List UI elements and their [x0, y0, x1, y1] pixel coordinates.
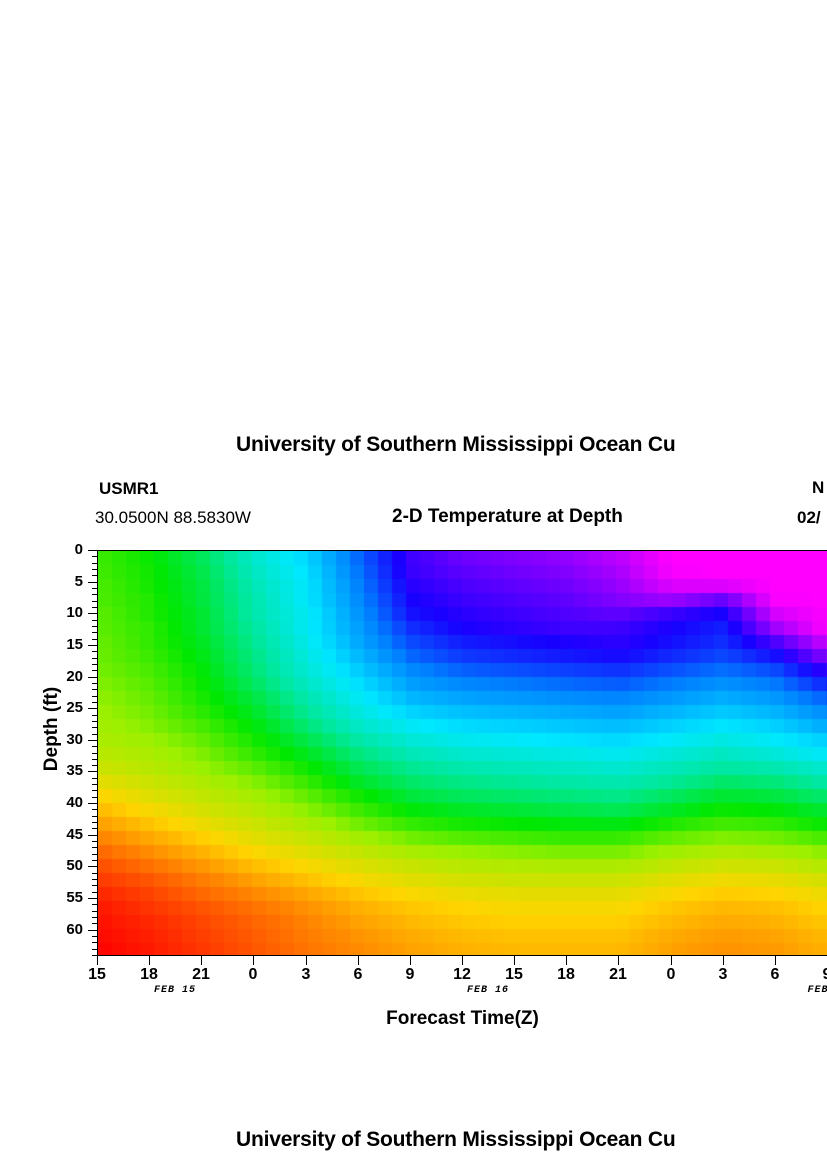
y-tick-mark	[88, 740, 97, 741]
model-run-label: N	[812, 478, 824, 498]
y-tick-minor	[92, 664, 97, 665]
y-tick-minor	[92, 759, 97, 760]
y-tick-minor	[92, 696, 97, 697]
y-tick-label: 40	[49, 795, 83, 810]
x-tick-mark	[253, 956, 254, 965]
y-tick-minor	[92, 639, 97, 640]
y-tick-label: 55	[49, 890, 83, 905]
plot-subtitle: 2-D Temperature at Depth	[392, 506, 623, 528]
x-tick-label: 3	[286, 967, 326, 983]
x-tick-label: 9	[807, 967, 827, 983]
y-tick-minor	[92, 594, 97, 595]
y-tick-minor	[92, 734, 97, 735]
y-tick-minor	[92, 942, 97, 943]
x-tick-mark	[149, 956, 150, 965]
y-tick-minor	[92, 816, 97, 817]
y-tick-minor	[92, 885, 97, 886]
y-tick-minor	[92, 753, 97, 754]
y-tick-label: 45	[49, 827, 83, 842]
y-tick-minor	[92, 569, 97, 570]
x-tick-mark	[566, 956, 567, 965]
model-run-date: 02/	[797, 508, 821, 528]
y-tick-minor	[92, 949, 97, 950]
x-tick-label: 6	[755, 967, 795, 983]
y-tick-mark	[88, 645, 97, 646]
x-tick-mark	[306, 956, 307, 965]
y-tick-minor	[92, 651, 97, 652]
y-tick-minor	[92, 670, 97, 671]
y-tick-mark	[88, 866, 97, 867]
y-tick-minor	[92, 936, 97, 937]
y-tick-minor	[92, 879, 97, 880]
y-tick-minor	[92, 923, 97, 924]
y-tick-mark	[88, 771, 97, 772]
y-tick-minor	[92, 702, 97, 703]
x-tick-label: 3	[703, 967, 743, 983]
y-tick-label: 15	[49, 637, 83, 652]
y-tick-minor	[92, 683, 97, 684]
y-tick-minor	[92, 873, 97, 874]
y-tick-minor	[92, 828, 97, 829]
y-tick-minor	[92, 860, 97, 861]
heatmap-canvas	[98, 551, 827, 956]
y-tick-mark	[88, 708, 97, 709]
x-tick-label: 12	[442, 967, 482, 983]
y-tick-minor	[92, 721, 97, 722]
y-tick-label: 0	[49, 542, 83, 557]
station-id-label: USMR1	[99, 479, 159, 499]
y-tick-label: 5	[49, 574, 83, 589]
y-tick-minor	[92, 809, 97, 810]
x-date-label: FEB 16	[448, 986, 528, 996]
y-tick-minor	[92, 607, 97, 608]
y-tick-mark	[88, 582, 97, 583]
y-tick-minor	[92, 575, 97, 576]
y-tick-minor	[92, 854, 97, 855]
y-tick-minor	[92, 790, 97, 791]
x-tick-label: 0	[651, 967, 691, 983]
y-tick-minor	[92, 626, 97, 627]
y-tick-minor	[92, 765, 97, 766]
x-tick-mark	[201, 956, 202, 965]
x-tick-label: 15	[77, 967, 117, 983]
y-tick-minor	[92, 620, 97, 621]
temperature-heatmap	[97, 550, 827, 956]
x-axis-title: Forecast Time(Z)	[0, 1008, 827, 1030]
y-tick-minor	[92, 715, 97, 716]
y-tick-minor	[92, 563, 97, 564]
y-tick-minor	[92, 556, 97, 557]
x-date-label: FEB 15	[135, 986, 215, 996]
y-tick-minor	[92, 658, 97, 659]
y-tick-minor	[92, 917, 97, 918]
x-tick-label: 0	[233, 967, 273, 983]
y-tick-minor	[92, 797, 97, 798]
x-tick-mark	[775, 956, 776, 965]
station-coordinates-label: 30.0500N 88.5830W	[95, 508, 251, 528]
y-tick-minor	[92, 632, 97, 633]
y-tick-label: 50	[49, 858, 83, 873]
x-tick-mark	[723, 956, 724, 965]
y-axis-title: Depth (ft)	[41, 669, 63, 789]
x-tick-label: 15	[494, 967, 534, 983]
x-tick-mark	[358, 956, 359, 965]
y-tick-minor	[92, 822, 97, 823]
x-tick-label: 21	[598, 967, 638, 983]
y-tick-minor	[92, 784, 97, 785]
y-tick-minor	[92, 847, 97, 848]
y-tick-minor	[92, 892, 97, 893]
footer-title: University of Southern Mississippi Ocean…	[236, 1128, 676, 1152]
x-tick-mark	[462, 956, 463, 965]
y-tick-mark	[88, 930, 97, 931]
y-tick-minor	[92, 911, 97, 912]
y-tick-mark	[88, 613, 97, 614]
y-tick-minor	[92, 841, 97, 842]
y-tick-mark	[88, 550, 97, 551]
y-tick-minor	[92, 746, 97, 747]
y-tick-minor	[92, 588, 97, 589]
x-tick-label: 9	[390, 967, 430, 983]
page-title: University of Southern Mississippi Ocean…	[236, 433, 676, 457]
x-tick-mark	[410, 956, 411, 965]
x-tick-label: 6	[338, 967, 378, 983]
y-tick-minor	[92, 601, 97, 602]
y-tick-mark	[88, 803, 97, 804]
x-tick-mark	[618, 956, 619, 965]
y-tick-minor	[92, 727, 97, 728]
x-tick-label: 18	[129, 967, 169, 983]
x-tick-mark	[671, 956, 672, 965]
y-tick-label: 10	[49, 605, 83, 620]
x-date-label: FEB	[778, 986, 827, 996]
y-tick-minor	[92, 778, 97, 779]
y-tick-minor	[92, 904, 97, 905]
x-tick-mark	[514, 956, 515, 965]
x-tick-mark	[97, 956, 98, 965]
x-tick-label: 21	[181, 967, 221, 983]
y-tick-mark	[88, 898, 97, 899]
y-tick-mark	[88, 835, 97, 836]
y-tick-label: 60	[49, 922, 83, 937]
x-tick-label: 18	[546, 967, 586, 983]
y-tick-mark	[88, 677, 97, 678]
y-tick-minor	[92, 689, 97, 690]
